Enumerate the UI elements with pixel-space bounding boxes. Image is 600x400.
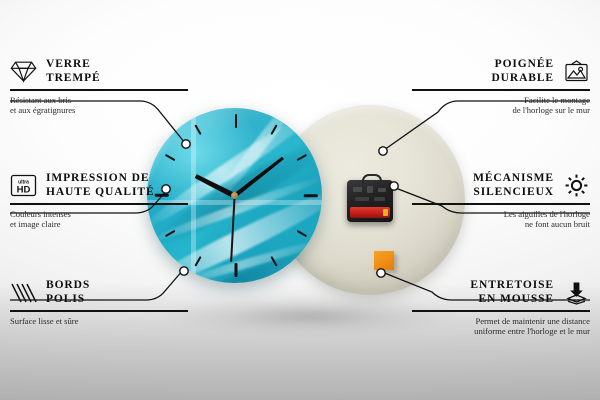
mechanism-detail: [378, 188, 386, 192]
battery-terminal: [383, 209, 388, 216]
callout-divider: [412, 203, 590, 204]
callout-header: POIGNÉEDURABLE: [412, 58, 590, 85]
callout-title: VERRETREMPÉ: [46, 58, 101, 85]
diamond-icon: [10, 58, 37, 85]
callout-description: Résistant aux briset aux égratignures: [10, 95, 188, 116]
callout-entretoise-en-mousse: ENTRETOISEEN MOUSSE Permet de maintenir …: [412, 279, 590, 337]
callout-header: ENTRETOISEEN MOUSSE: [412, 279, 590, 306]
callout-description: Couleurs intenseset image claire: [10, 209, 188, 230]
callout-header: BORDSPOLIS: [10, 279, 188, 306]
callout-title: IMPRESSION DEHAUTE QUALITÉ: [46, 172, 155, 199]
mechanism-battery: [350, 207, 390, 218]
callout-description: Les aiguilles de l'horlogene font aucun …: [412, 209, 590, 230]
foam-spacer: [374, 251, 394, 270]
down-arrow-layers-icon: [563, 279, 590, 306]
callout-verre-trempe: VERRETREMPÉ Résistant aux briset aux égr…: [10, 58, 188, 116]
polished-edges-icon: [10, 279, 37, 306]
clock-mechanism: [347, 180, 393, 222]
callout-divider: [412, 89, 590, 90]
gear-icon: [563, 172, 590, 199]
picture-hanger-icon: [563, 58, 590, 85]
callout-divider: [10, 203, 188, 204]
mechanism-detail: [355, 197, 369, 201]
callout-divider: [10, 89, 188, 90]
hanger-loop-icon: [362, 174, 382, 185]
hour-tick: [235, 263, 238, 277]
hour-tick: [235, 114, 238, 128]
callout-description: Surface lisse et sûre: [10, 316, 188, 327]
mechanism-detail: [367, 186, 373, 193]
callout-bords-polis: BORDSPOLIS Surface lisse et sûre: [10, 279, 188, 326]
callout-title: BORDSPOLIS: [46, 279, 90, 306]
ultra-hd-icon: ultra HD: [10, 172, 37, 199]
callout-title: ENTRETOISEEN MOUSSE: [470, 279, 554, 306]
product-infographic: VERRETREMPÉ Résistant aux briset aux égr…: [0, 0, 600, 400]
callout-poignee-durable: POIGNÉEDURABLE Facilite le montagede l'h…: [412, 58, 590, 116]
callout-divider: [412, 310, 590, 311]
callout-title: MÉCANISMESILENCIEUX: [473, 172, 554, 199]
callout-title: POIGNÉEDURABLE: [491, 58, 554, 85]
mechanism-detail: [374, 197, 385, 201]
mechanism-detail: [353, 187, 362, 192]
callout-header: ultra HD IMPRESSION DEHAUTE QUALITÉ: [10, 172, 188, 199]
callout-divider: [10, 310, 188, 311]
hour-tick: [303, 194, 317, 197]
callout-description: Permet de maintenir une distanceuniforme…: [412, 316, 590, 337]
callout-header: MÉCANISMESILENCIEUX: [412, 172, 590, 199]
callout-description: Facilite le montagede l'horloge sur le m…: [412, 95, 590, 116]
callout-mecanisme-silencieux: MÉCANISMESILENCIEUX Les aiguilles de l'h…: [412, 172, 590, 230]
callout-header: VERRETREMPÉ: [10, 58, 188, 85]
hands-center-cap: [231, 192, 238, 199]
svg-text:HD: HD: [17, 185, 31, 196]
callout-impression-haute-qualite: ultra HD IMPRESSION DEHAUTE QUALITÉ Coul…: [10, 172, 188, 230]
